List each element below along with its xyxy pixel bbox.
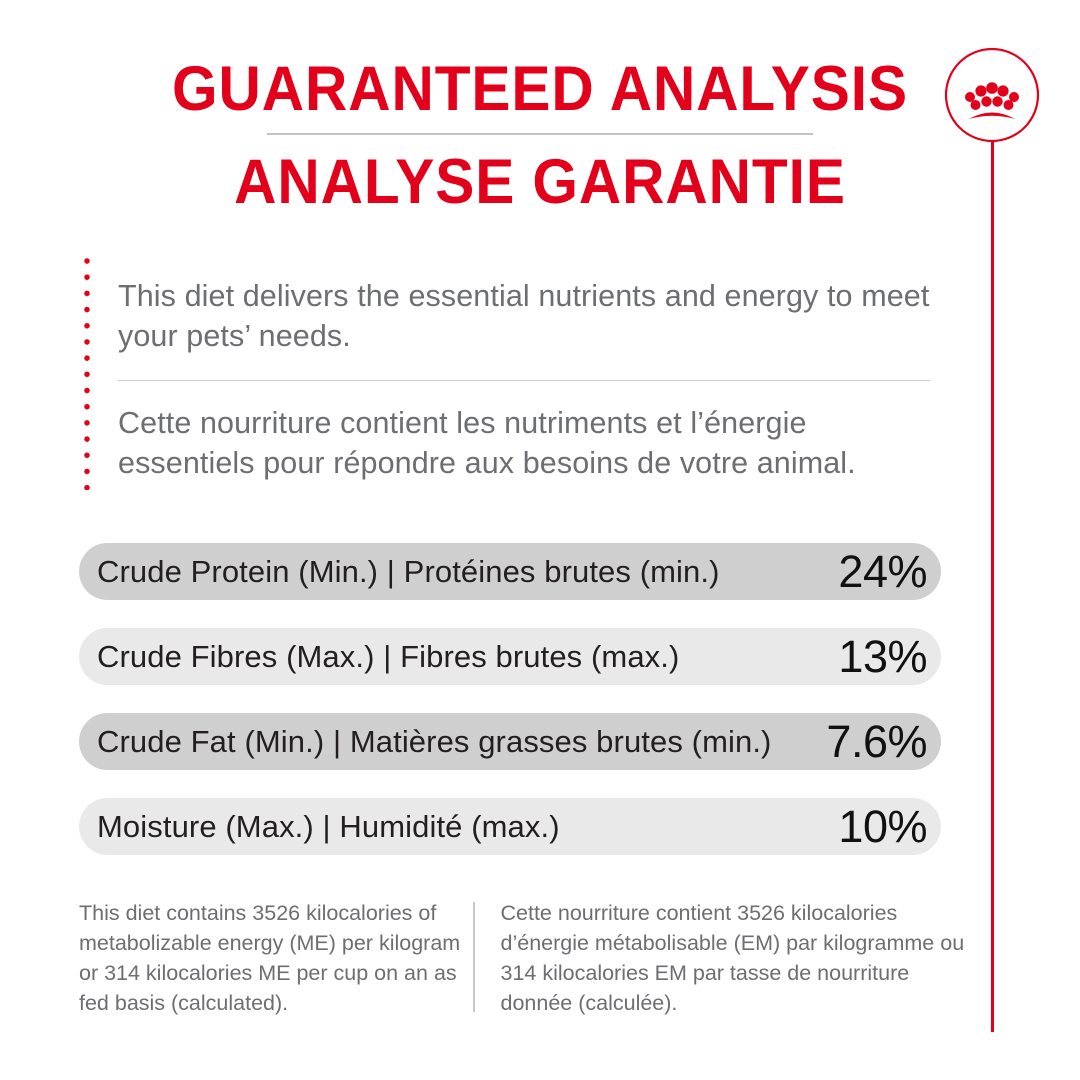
nutrient-label: Crude Fibres (Max.) | Fibres brutes (max… [97,639,679,675]
nutrient-label: Crude Protein (Min.) | Protéines brutes … [97,554,720,590]
nutrient-value: 24% [838,549,927,594]
guaranteed-analysis-panel: GUARANTEED ANALYSIS ANALYSE GARANTIE Thi… [0,0,1080,1080]
dotted-accent-rail [84,258,90,490]
nutrient-value: 13% [838,634,927,679]
page-title-french: ANALYSE GARANTIE [38,151,1042,214]
table-row: Crude Fat (Min.) | Matières grasses brut… [79,713,941,770]
table-row: Crude Protein (Min.) | Protéines brutes … [79,543,941,600]
footer-note-french: Cette nourriture contient 3526 kilocalor… [475,898,971,1018]
intro-text-french: Cette nourriture contient les nutriments… [118,381,944,483]
table-row: Crude Fibres (Max.) | Fibres brutes (max… [79,628,941,685]
footer-note-english: This diet contains 3526 kilocalories of … [79,898,473,1018]
title-divider [267,133,813,135]
intro-body: This diet delivers the essential nutrien… [118,256,944,483]
nutrient-value: 7.6% [826,719,927,764]
page-title: GUARANTEED ANALYSIS ANALYSE GARANTIE [0,58,1080,214]
analysis-rows: Crude Protein (Min.) | Protéines brutes … [79,543,941,883]
page-title-english: GUARANTEED ANALYSIS [38,58,1042,121]
nutrient-value: 10% [838,804,927,849]
nutrient-label: Crude Fat (Min.) | Matières grasses brut… [97,724,771,760]
footer-notes: This diet contains 3526 kilocalories of … [79,898,989,1018]
intro-section: This diet delivers the essential nutrien… [84,256,944,492]
intro-text-english: This diet delivers the essential nutrien… [118,256,944,356]
logo-stem-line [991,140,994,1032]
table-row: Moisture (Max.) | Humidité (max.) 10% [79,798,941,855]
nutrient-label: Moisture (Max.) | Humidité (max.) [97,809,560,845]
